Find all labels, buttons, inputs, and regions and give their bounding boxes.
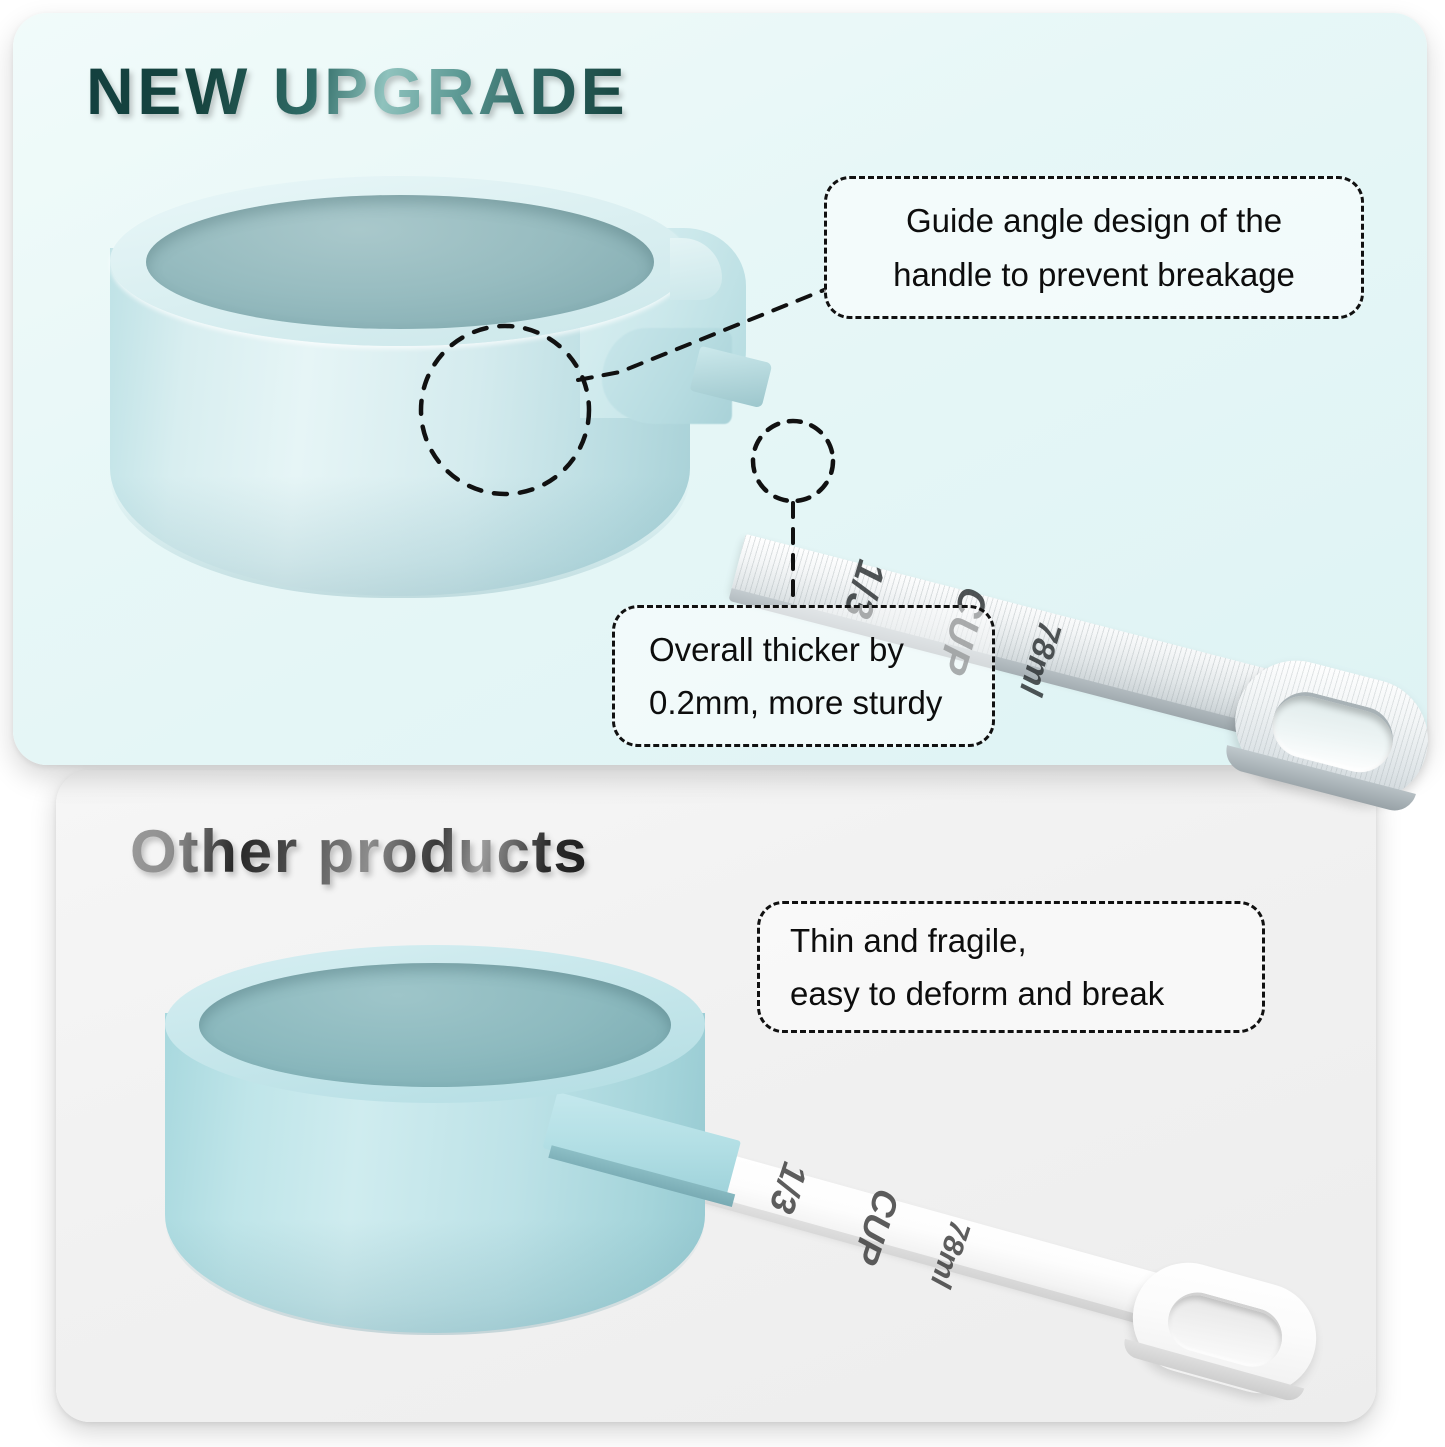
callout-guide-angle: Guide angle design of the handle to prev… bbox=[824, 176, 1364, 319]
cup-body-shading bbox=[110, 476, 690, 598]
callout-fragility: Thin and fragile, easy to deform and bre… bbox=[757, 901, 1265, 1033]
page-title-new-upgrade: NEW UPGRADE bbox=[86, 53, 628, 129]
callout-fragility-line-1: Thin and fragile, bbox=[790, 914, 1027, 967]
callout-guide-line-2: handle to prevent breakage bbox=[893, 248, 1295, 301]
callout-thickness-line-1: Overall thicker by bbox=[649, 623, 904, 676]
callout-fragility-line-2: easy to deform and break bbox=[790, 967, 1164, 1020]
cup-interior bbox=[146, 195, 654, 329]
cup-body-shading bbox=[165, 1219, 705, 1335]
page-title-other-products: Other products bbox=[130, 817, 589, 886]
handle-plastic-thin: 1/3 CUP 78ml bbox=[643, 1127, 1322, 1395]
callout-thickness: Overall thicker by 0.2mm, more sturdy bbox=[612, 605, 995, 747]
callout-guide-line-1: Guide angle design of the bbox=[906, 194, 1282, 247]
callout-thickness-line-2: 0.2mm, more sturdy bbox=[649, 676, 942, 729]
measuring-cup-upgraded bbox=[110, 176, 710, 646]
handle-bar bbox=[669, 1141, 1183, 1326]
measuring-cup-other bbox=[165, 945, 725, 1365]
cup-interior bbox=[199, 963, 671, 1087]
infographic-canvas: 1/3 CUP 78ml 1/3 CUP 78ml bbox=[0, 0, 1445, 1447]
